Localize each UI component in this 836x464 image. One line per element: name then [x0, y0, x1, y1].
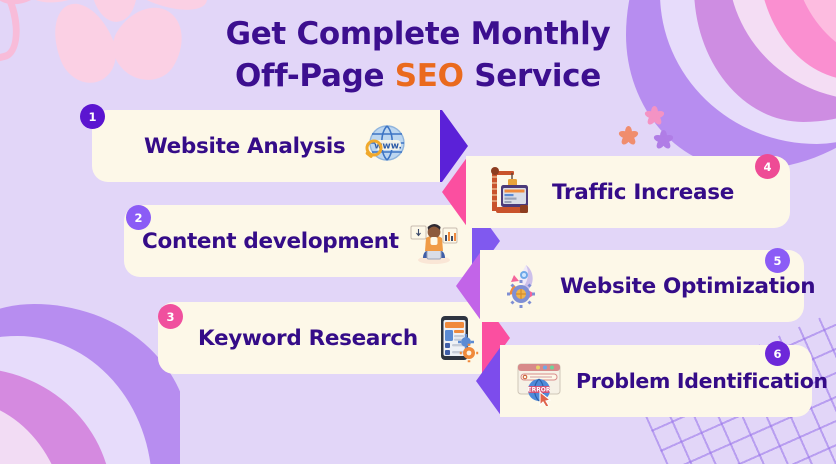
step-5-panel: Website Optimization	[480, 250, 804, 322]
title-line-1: Get Complete Monthly	[226, 16, 611, 52]
step-4-number: 4	[763, 160, 771, 174]
step-2-badge: 2	[126, 205, 151, 230]
step-5-badge: 5	[765, 248, 790, 273]
step-card-5[interactable]: Website Optimization 5	[452, 250, 804, 322]
step-2-number: 2	[134, 211, 142, 225]
title-line-2-post: Service	[464, 58, 601, 94]
step-5-label: Website Optimization	[560, 274, 815, 299]
step-card-6[interactable]: ERROR Problem Identification 6	[472, 345, 812, 417]
step-4-label: Traffic Increase	[552, 180, 734, 205]
crane-webpage-icon	[484, 167, 534, 217]
step-4-badge: 4	[755, 154, 780, 179]
title-line-2-pre: Off-Page	[235, 58, 395, 94]
rocket-gear-icon	[496, 261, 546, 311]
step-3-label: Keyword Research	[198, 326, 418, 351]
decoration-flower-purple	[652, 128, 674, 150]
infographic-canvas: Get Complete Monthly Off-Page SEO Servic…	[0, 0, 836, 464]
step-1-label: Website Analysis	[144, 134, 345, 159]
browser-globe-cursor-icon: ERROR	[514, 356, 564, 406]
step-2-panel: Content development	[124, 205, 472, 277]
step-4-panel: Traffic Increase	[466, 156, 790, 228]
step-6-label: Problem Identification	[576, 369, 828, 393]
step-card-1[interactable]: Website Analysis www. 1	[92, 110, 468, 182]
page-title: Get Complete Monthly Off-Page SEO Servic…	[0, 14, 836, 97]
step-3-badge: 3	[158, 304, 183, 329]
step-2-label: Content development	[142, 229, 399, 254]
title-seo-accent: SEO	[395, 58, 464, 94]
step-1-panel: Website Analysis www.	[92, 110, 440, 182]
step-1-number: 1	[88, 110, 96, 124]
globe-magnifier-icon: www.	[359, 121, 409, 171]
step-6-number: 6	[773, 347, 781, 361]
step-card-4[interactable]: Traffic Increase 4	[438, 156, 790, 228]
decoration-bottom-left-waves	[0, 284, 180, 464]
decoration-flower-pink	[644, 104, 664, 124]
step-3-panel: Keyword Research	[158, 302, 482, 374]
step-3-number: 3	[166, 310, 174, 324]
decoration-flower-orange	[618, 124, 638, 144]
title-line-2: Off-Page SEO Service	[0, 56, 836, 98]
step-1-badge: 1	[80, 104, 105, 129]
svg-text:ERROR: ERROR	[527, 387, 550, 394]
step-6-badge: 6	[765, 341, 790, 366]
step-5-number: 5	[773, 254, 781, 268]
